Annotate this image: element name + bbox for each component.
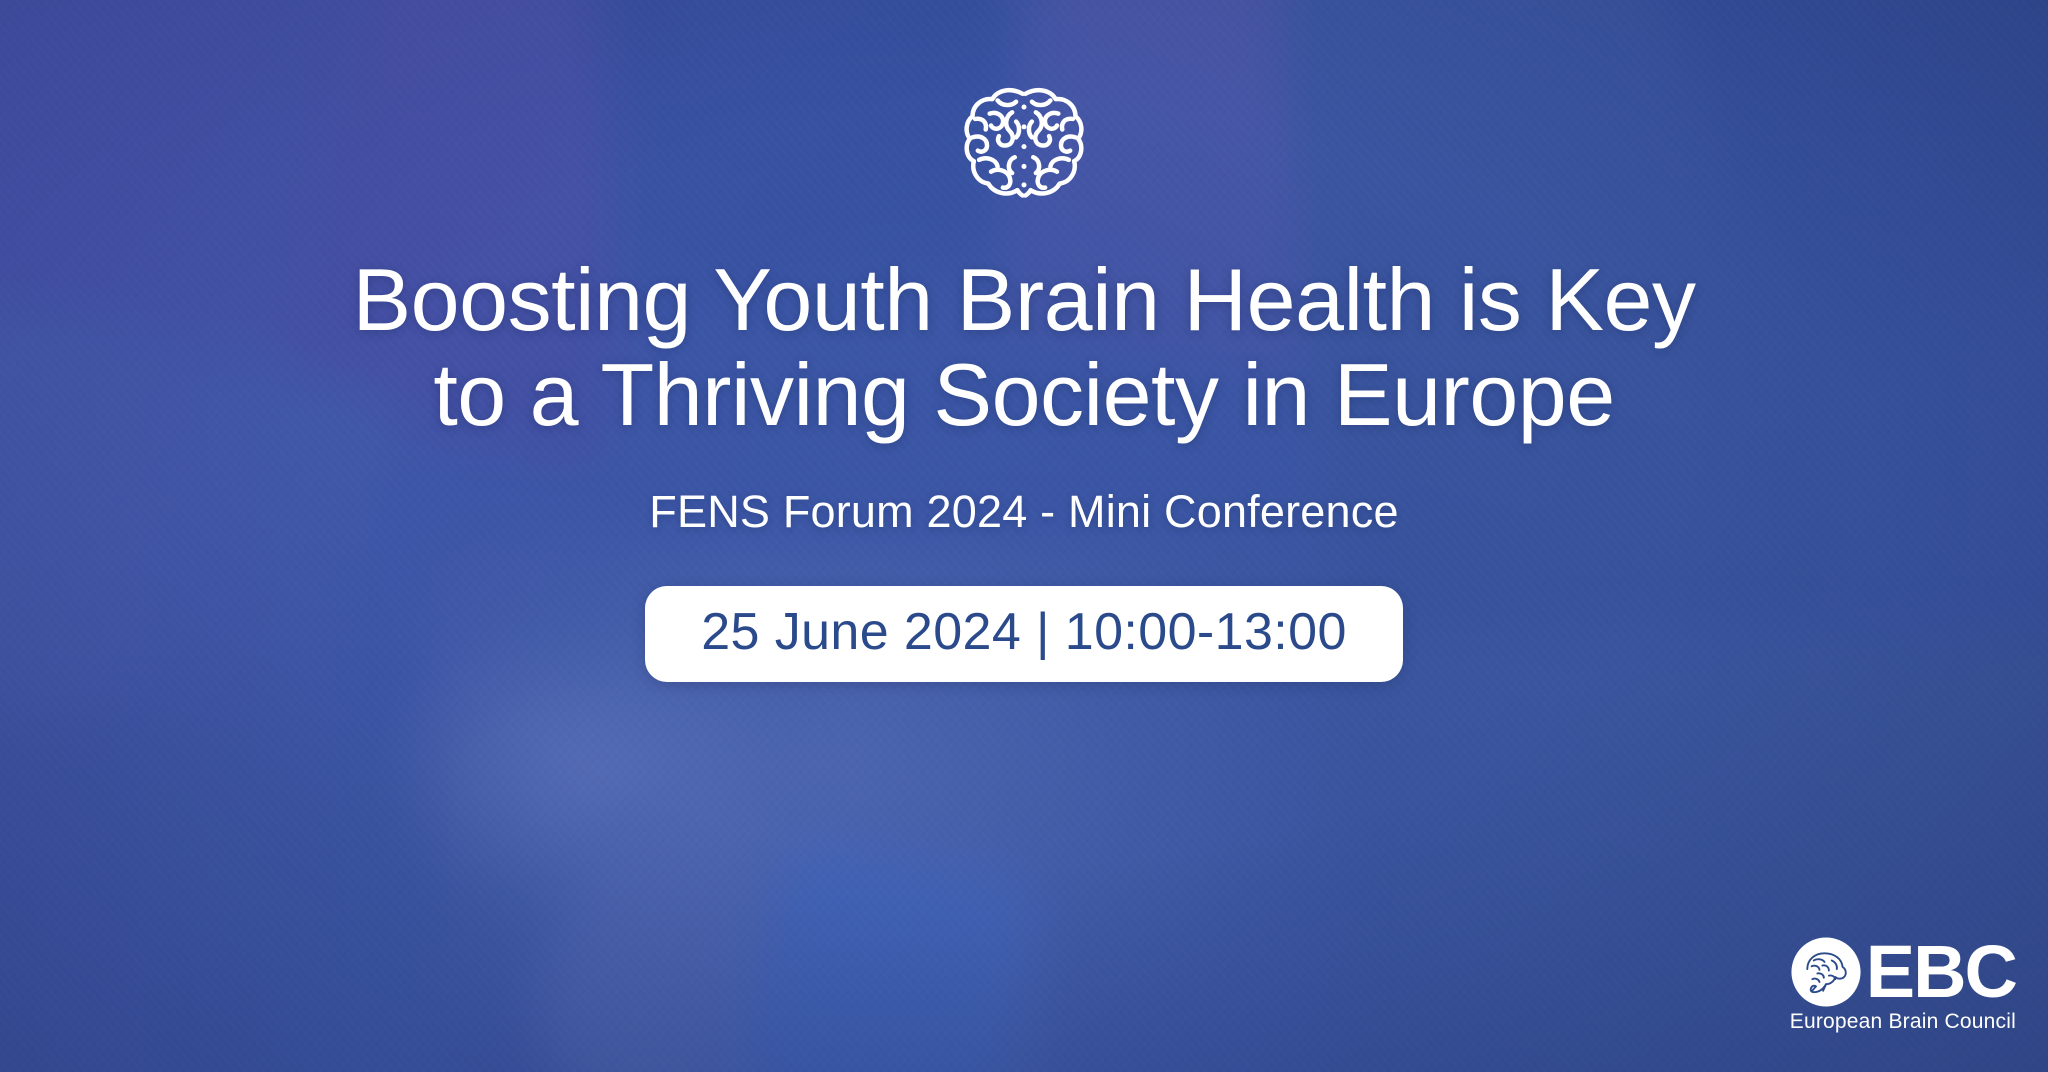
- ebc-logo-row: EBC: [1790, 936, 2016, 1008]
- ebc-tagline: European Brain Council: [1790, 1010, 2016, 1034]
- title-line-2: to a Thriving Society in Europe: [0, 347, 2048, 442]
- page-title: Boosting Youth Brain Health is Key to a …: [0, 252, 2048, 442]
- brain-icon: [958, 78, 1090, 210]
- title-line-1: Boosting Youth Brain Health is Key: [0, 252, 2048, 347]
- date-time-badge: 25 June 2024 | 10:00-13:00: [645, 586, 1403, 682]
- event-banner: Boosting Youth Brain Health is Key to a …: [0, 0, 2048, 1072]
- ebc-brain-mark-icon: [1790, 936, 1862, 1008]
- event-subtitle: FENS Forum 2024 - Mini Conference: [649, 486, 1398, 538]
- ebc-letters: EBC: [1866, 938, 2016, 1006]
- banner-content: Boosting Youth Brain Health is Key to a …: [0, 0, 2048, 1072]
- ebc-logo: EBC European Brain Council: [1790, 936, 2016, 1034]
